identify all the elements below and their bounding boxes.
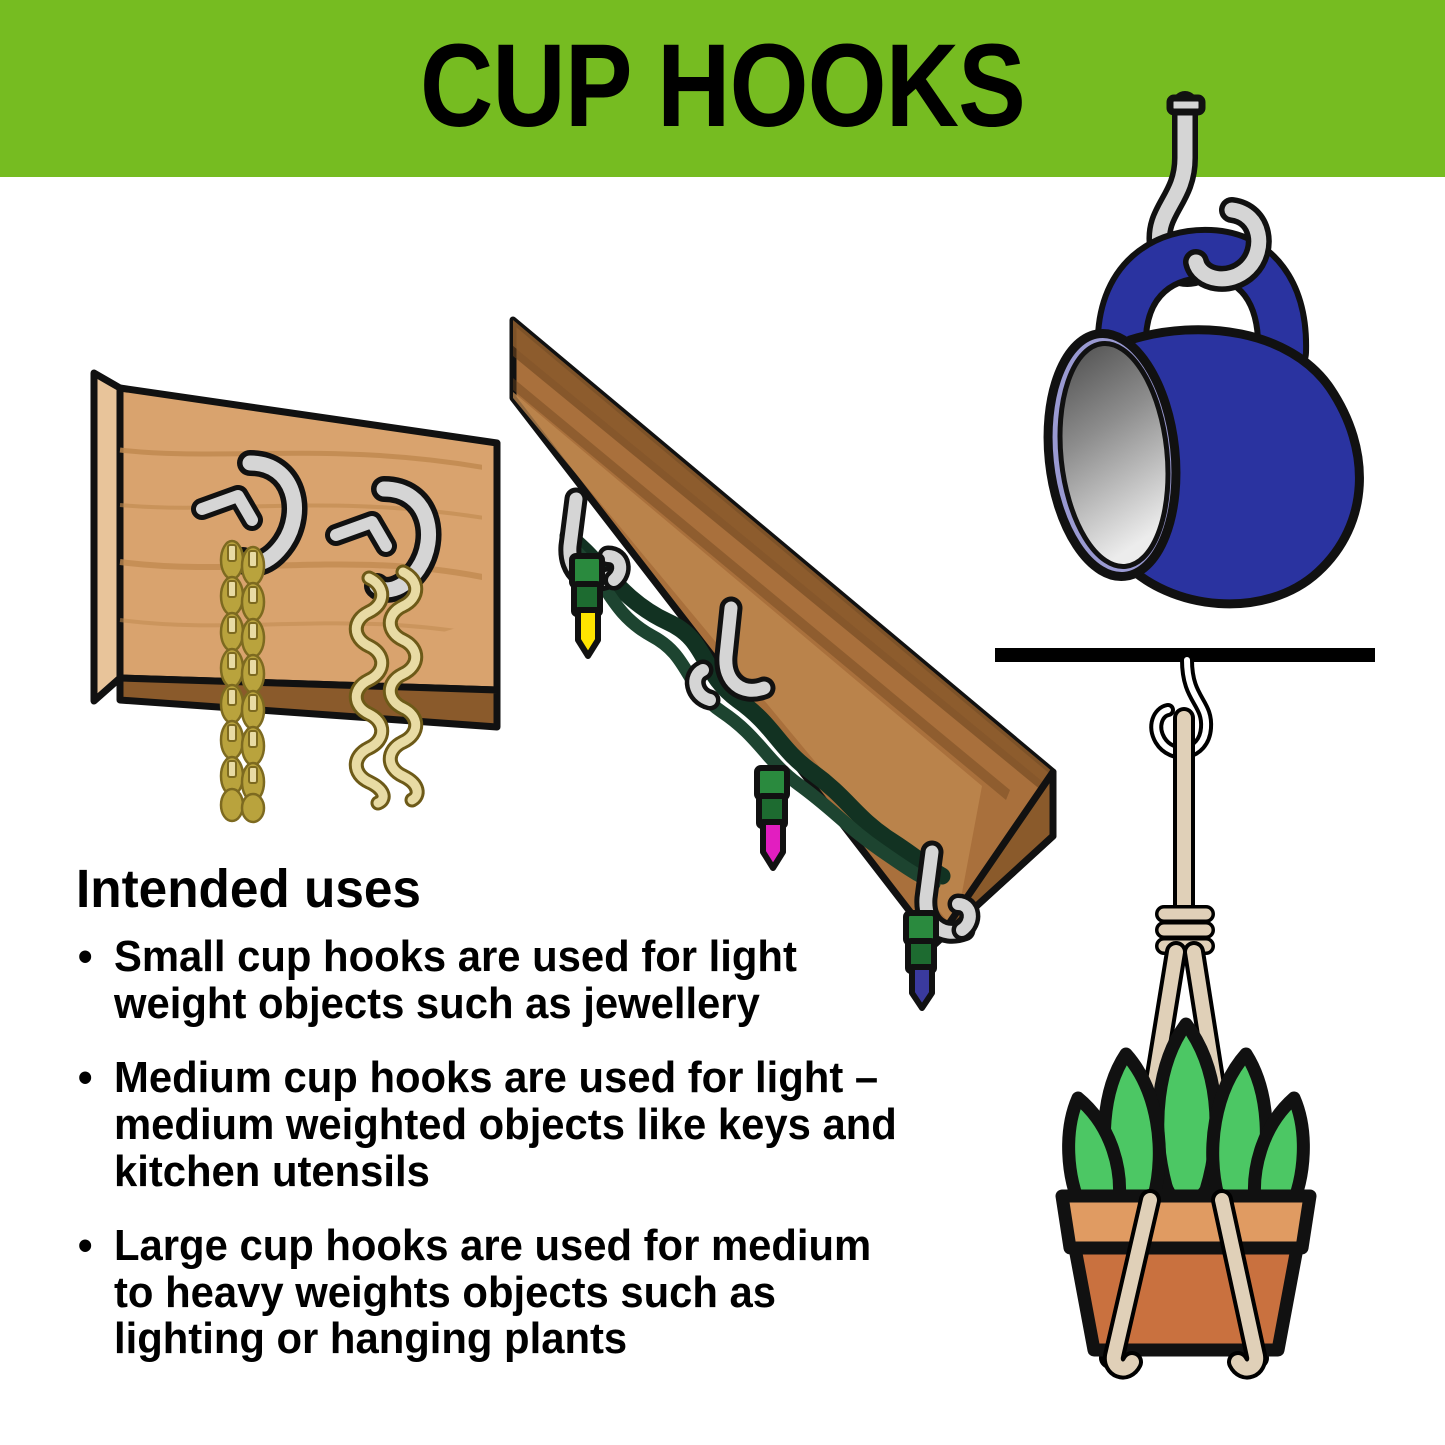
light-bulb <box>757 768 787 868</box>
intended-uses-list: • Small cup hooks are used for light wei… <box>76 934 956 1363</box>
cup-hook-icon <box>336 489 429 590</box>
plant-pot-body <box>1066 1200 1306 1350</box>
bullet-glyph: • <box>78 1055 93 1102</box>
board-wood-grain <box>120 450 497 638</box>
beam-groove-2 <box>513 378 1010 800</box>
board-front-face <box>120 388 497 690</box>
mug-rim <box>1037 327 1188 583</box>
ceiling-bar <box>995 648 1375 662</box>
hanging-plant-illustration <box>995 648 1375 1369</box>
cup-hook-icon <box>570 499 620 580</box>
header-banner: CUP HOOKS <box>0 0 1445 177</box>
chain-thick <box>390 572 417 800</box>
list-item: • Large cup hooks are used for medium to… <box>76 1223 912 1363</box>
rope-legs-front <box>1114 1200 1256 1369</box>
page-title: CUP HOOKS <box>101 0 1344 177</box>
mug-handle <box>1122 254 1282 352</box>
light-bulb <box>572 556 602 656</box>
intended-uses-heading: Intended uses <box>76 862 912 916</box>
beam-top-band <box>513 320 1053 790</box>
mug-interior <box>1050 338 1179 572</box>
infographic-canvas: CUP HOOKS <box>0 0 1445 1445</box>
plant-leaves <box>1069 1024 1304 1221</box>
bullet-glyph: • <box>78 934 93 981</box>
list-item-text: Small cup hooks are used for light weigh… <box>114 932 797 1028</box>
cup-hook-icon <box>695 608 764 700</box>
beam-groove-1 <box>513 346 1053 800</box>
light-string-wire <box>572 548 934 884</box>
intended-uses-section: Intended uses • Small cup hooks are used… <box>76 862 956 1391</box>
wood-board-illustration <box>94 373 497 822</box>
plant-pot-rim <box>1062 1196 1310 1248</box>
chain-thick <box>356 578 383 803</box>
mug-body <box>1087 330 1360 604</box>
beam-body <box>513 320 1053 944</box>
light-string-wire <box>568 536 942 876</box>
chain-thin <box>242 547 264 822</box>
ceiling-hook-icon <box>1156 660 1206 753</box>
mug-hook-icon <box>1196 210 1259 279</box>
cup-hook-icon <box>202 463 295 564</box>
list-item: • Medium cup hooks are used for light – … <box>76 1055 912 1195</box>
list-item-text: Medium cup hooks are used for light – me… <box>114 1053 897 1195</box>
board-end-face <box>94 373 120 701</box>
chain-thin <box>221 541 243 821</box>
beam-lower-band <box>513 392 982 930</box>
list-item: • Small cup hooks are used for light wei… <box>76 934 912 1027</box>
list-item-text: Large cup hooks are used for medium to h… <box>114 1221 871 1363</box>
board-bottom-edge <box>120 678 497 727</box>
rope-knot <box>1164 914 1206 946</box>
bullet-glyph: • <box>78 1223 93 1270</box>
rope-legs-back <box>1110 952 1258 1358</box>
